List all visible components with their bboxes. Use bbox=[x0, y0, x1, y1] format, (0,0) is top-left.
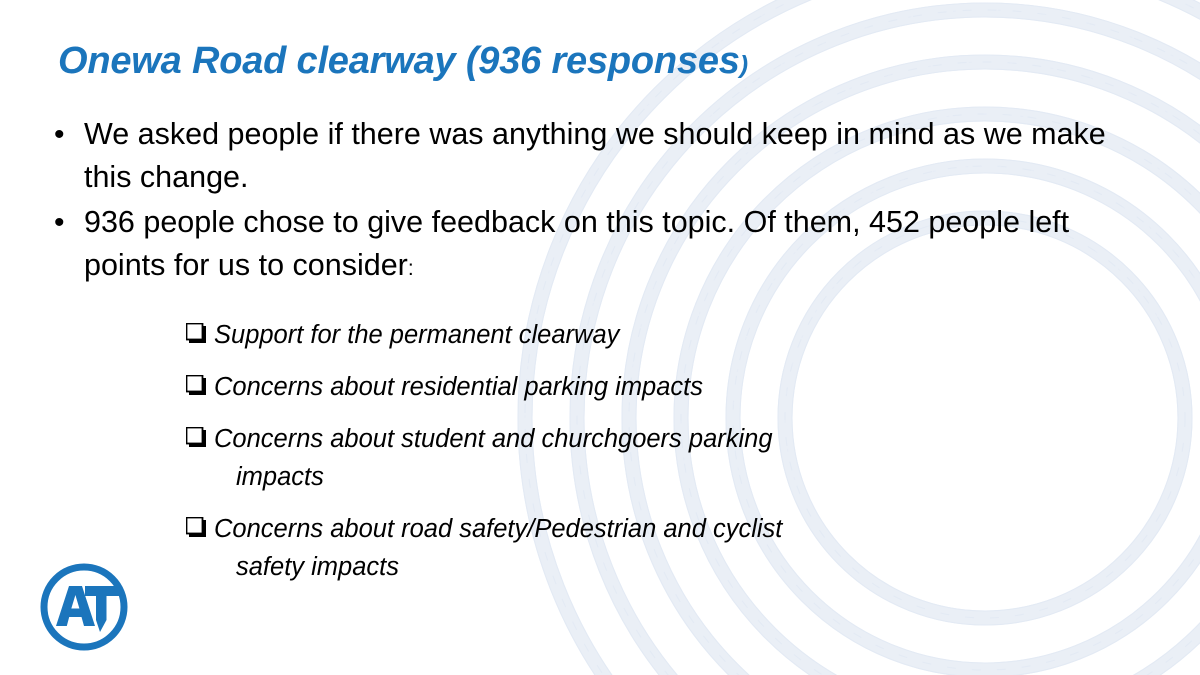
bullet-text: 936 people chose to give feedback on thi… bbox=[84, 201, 1124, 290]
slide-title-closing-paren: ) bbox=[740, 51, 748, 79]
bullet-dot-icon: • bbox=[54, 201, 84, 244]
box-icon bbox=[186, 368, 212, 400]
sub-bullet-line-1: Concerns about residential parking impac… bbox=[214, 373, 703, 401]
sub-bullet-item: Concerns about road safety/Pedestrian an… bbox=[186, 510, 986, 586]
sub-bullet-line-2: impacts bbox=[214, 458, 986, 496]
main-bullet-list: • We asked people if there was anything … bbox=[54, 113, 1124, 292]
bullet-item: • We asked people if there was anything … bbox=[54, 113, 1124, 199]
box-icon bbox=[186, 510, 212, 542]
sub-bullet-item: Support for the permanent clearway bbox=[186, 316, 986, 354]
bullet-item: • 936 people chose to give feedback on t… bbox=[54, 201, 1124, 290]
sub-bullet-item: Concerns about residential parking impac… bbox=[186, 368, 986, 406]
bullet-text: We asked people if there was anything we… bbox=[84, 113, 1124, 199]
sub-bullet-text: Concerns about road safety/Pedestrian an… bbox=[212, 510, 986, 586]
sub-bullet-text: Concerns about residential parking impac… bbox=[212, 368, 986, 406]
sub-bullet-line-1: Concerns about student and churchgoers p… bbox=[214, 425, 773, 453]
sub-bullet-item: Concerns about student and churchgoers p… bbox=[186, 420, 986, 496]
sub-bullet-line-1: Concerns about road safety/Pedestrian an… bbox=[214, 515, 782, 543]
sub-bullet-text: Support for the permanent clearway bbox=[212, 316, 986, 354]
sub-bullet-line-1: Support for the permanent clearway bbox=[214, 321, 619, 349]
slide-title: Onewa Road clearway (936 responses) bbox=[58, 40, 748, 83]
bullet-dot-icon: • bbox=[54, 113, 84, 156]
box-icon bbox=[186, 316, 212, 348]
box-icon bbox=[186, 420, 212, 452]
slide-title-text: Onewa Road clearway (936 responses bbox=[58, 40, 740, 82]
slide-canvas: Onewa Road clearway (936 responses) • We… bbox=[0, 0, 1200, 675]
sub-bullet-line-2: safety impacts bbox=[214, 548, 986, 586]
sub-bullet-list: Support for the permanent clearway Conce… bbox=[186, 316, 986, 600]
bullet-text-main: 936 people chose to give feedback on thi… bbox=[84, 205, 1069, 282]
sub-bullet-text: Concerns about student and churchgoers p… bbox=[212, 420, 986, 496]
bullet-text-trailing-colon: : bbox=[408, 257, 414, 280]
auckland-transport-logo bbox=[36, 558, 140, 656]
